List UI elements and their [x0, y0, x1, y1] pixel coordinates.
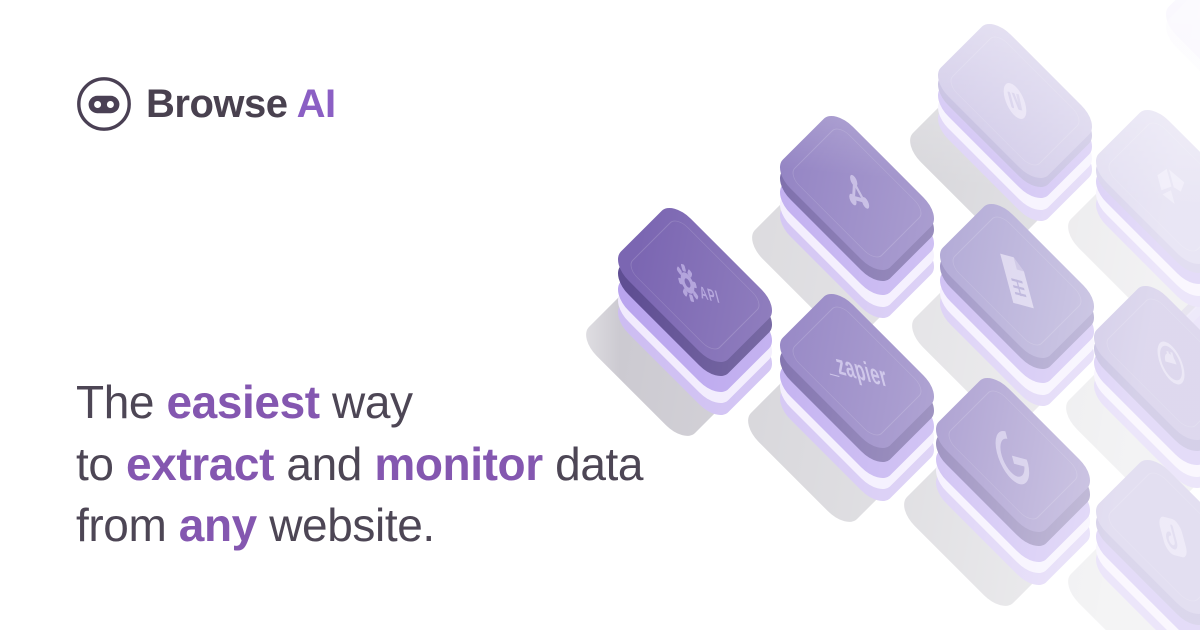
headline-line-1: The easiest way	[76, 372, 643, 434]
zapier-wordmark: _zapier	[823, 346, 892, 395]
brand-logo[interactable]: Browse AI	[76, 76, 336, 132]
tile-google	[898, 342, 1128, 572]
ground-shadow	[740, 362, 907, 529]
hook-badge-icon	[1150, 505, 1196, 568]
diamond-logo-icon	[1150, 159, 1196, 214]
stack-plate	[1158, 0, 1200, 125]
tile-stack-ghost-b	[1140, 230, 1200, 460]
stack-plate	[1180, 537, 1200, 630]
tile-edge	[930, 25, 1100, 195]
tile-face: API	[610, 200, 780, 370]
tile-edge	[928, 384, 1098, 554]
ground-shadow	[1061, 169, 1200, 336]
brand-name-accent: AI	[297, 82, 336, 126]
stack-plate	[928, 423, 1098, 593]
stack-plate	[1088, 477, 1200, 630]
webhook-icon	[834, 161, 880, 224]
stack-plate	[932, 233, 1102, 403]
ground-shadow	[896, 446, 1063, 613]
stack-plate	[930, 37, 1100, 207]
headline-line-3: from any website.	[76, 495, 643, 557]
tile-face	[932, 196, 1102, 366]
tile-edge	[772, 300, 942, 470]
tile-api: API	[580, 172, 810, 402]
stack-plate	[772, 316, 942, 486]
stack-plate	[1088, 500, 1200, 630]
tile-edge	[1088, 111, 1200, 281]
stack-plate	[930, 48, 1100, 218]
stack-plate	[772, 156, 942, 326]
brand-wordmark: Browse AI	[146, 84, 336, 124]
tile-face	[930, 16, 1100, 186]
tile-edge	[772, 119, 942, 289]
stack-plate	[930, 60, 1100, 230]
stack-plate	[932, 244, 1102, 414]
stack-plate	[928, 400, 1098, 570]
ground-shadow	[905, 267, 1072, 434]
tile-stack-ghost-a	[1128, 0, 1200, 160]
tile-make	[900, 0, 1130, 218]
ground-shadow	[1061, 523, 1200, 630]
tile-zapier: _zapier	[742, 258, 972, 488]
stack-plate	[1170, 283, 1200, 453]
tile-sheets	[902, 168, 1132, 398]
stack-plate	[1086, 315, 1200, 485]
tile-hook	[1058, 424, 1200, 630]
stack-plate	[932, 221, 1102, 391]
stack-plate	[1170, 260, 1200, 430]
tile-edge	[610, 214, 780, 384]
headline-line-2: to extract and monitor data	[76, 434, 643, 496]
plug-circle-icon	[1147, 330, 1195, 396]
stack-plate	[772, 327, 942, 497]
document-grid-icon	[996, 250, 1037, 312]
tile-plugin	[1056, 250, 1200, 480]
brand-name-primary: Browse	[146, 82, 288, 126]
stack-plate	[1088, 146, 1200, 316]
stack-plate	[1086, 303, 1200, 473]
stack-plate	[1086, 326, 1200, 496]
ground-shadow	[903, 83, 1070, 250]
g-logo-icon	[988, 420, 1039, 489]
robot-face-icon	[76, 76, 132, 132]
stack-plate	[772, 145, 942, 315]
gear-api-icon: API	[665, 251, 725, 318]
tile-stack-ghost-c	[1150, 500, 1200, 630]
tile-edge	[1086, 289, 1200, 459]
stack-plate	[928, 411, 1098, 581]
tile-face	[1086, 278, 1200, 448]
stack-plate	[1158, 0, 1200, 137]
tile-airtable	[1058, 74, 1200, 304]
tile-face	[772, 108, 942, 278]
tile-face: _zapier	[772, 286, 942, 456]
stack-plate	[772, 339, 942, 509]
page-title: The easiest way to extract and monitor d…	[76, 372, 643, 557]
stack-plate	[1088, 134, 1200, 304]
tile-face	[1088, 102, 1200, 272]
stack-plate	[1170, 272, 1200, 442]
stack-plate	[1088, 123, 1200, 293]
tile-edge	[932, 207, 1102, 377]
tile-face	[1088, 452, 1200, 622]
stack-plate	[1088, 489, 1200, 630]
stack-plate	[1180, 549, 1200, 630]
svg-text:API: API	[697, 282, 722, 307]
tile-face	[928, 370, 1098, 540]
tile-edge	[1088, 463, 1200, 630]
tile-webhook	[742, 80, 972, 310]
stack-plate	[772, 133, 942, 303]
ground-shadow	[1059, 349, 1200, 516]
make-badge-icon	[992, 69, 1038, 132]
ground-shadow	[745, 179, 912, 346]
